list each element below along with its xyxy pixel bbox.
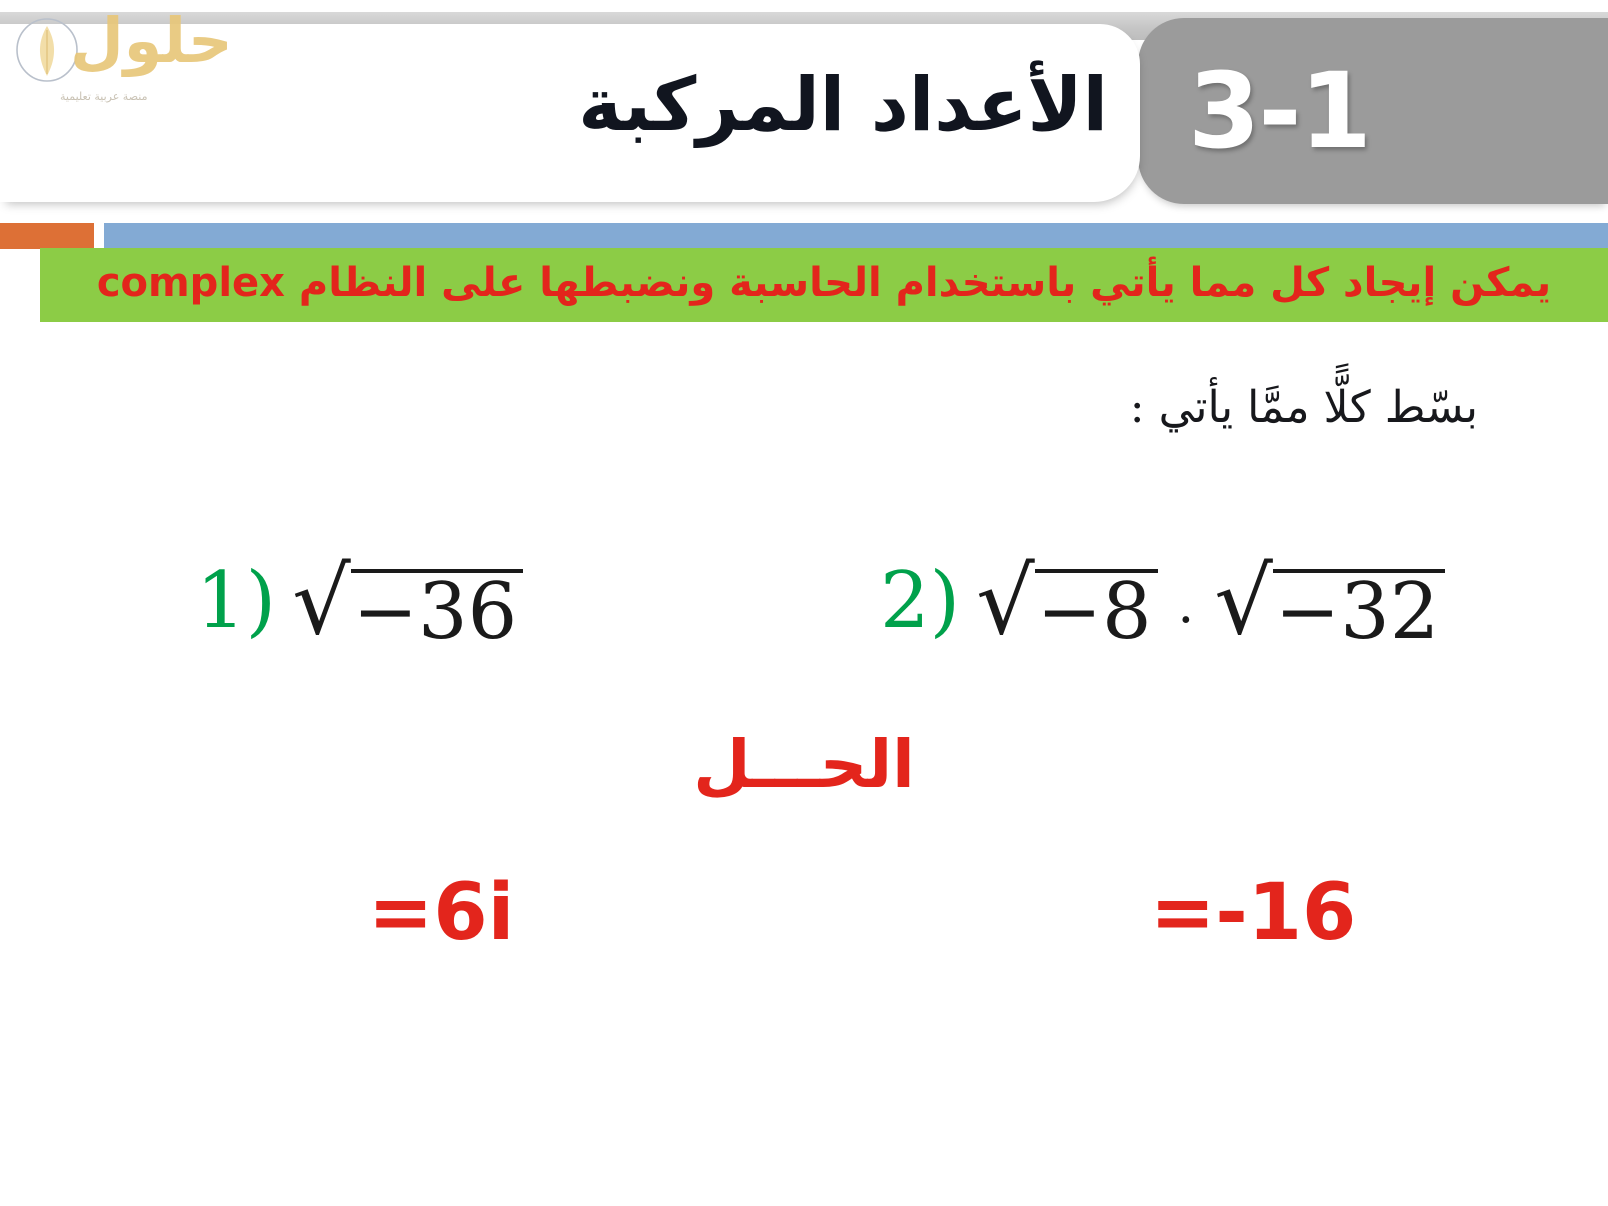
problem-row: 1) √ −36 2) √ −8 · √ −32 bbox=[0, 562, 1608, 692]
solution-label: الحـــل bbox=[0, 726, 1608, 803]
answer-value-2: =-16 bbox=[1150, 874, 1356, 952]
problem-item-1: 1) √ −36 bbox=[196, 562, 523, 653]
problem-item-2: 2) √ −8 · √ −32 bbox=[880, 562, 1445, 653]
radical-expression-a: √ −8 bbox=[976, 562, 1158, 653]
instruction-banner-text: يمكن إيجاد كل مما يأتي باستخدام الحاسبة … bbox=[97, 263, 1551, 307]
lesson-badge-panel: 3-1 bbox=[1138, 18, 1608, 204]
slide-root: 3-1 حلول منصة عربية تعليمية الأعداد المر… bbox=[0, 0, 1608, 1206]
radicand-value-b: −32 bbox=[1273, 569, 1446, 653]
brand-logo: حلول منصة عربية تعليمية bbox=[8, 6, 238, 118]
multiplication-dot-icon: · bbox=[1168, 595, 1205, 647]
instruction-banner: يمكن إيجاد كل مما يأتي باستخدام الحاسبة … bbox=[40, 248, 1608, 322]
radical-expression-b: √ −32 bbox=[1214, 562, 1445, 653]
orange-accent-bar bbox=[0, 223, 94, 249]
blue-accent-bar bbox=[104, 223, 1608, 249]
answer-row: =6i =-16 bbox=[0, 874, 1608, 984]
problem-index-1: 1) bbox=[196, 562, 276, 640]
radicand-value: −36 bbox=[351, 569, 524, 653]
logo-wordmark: حلول bbox=[70, 10, 233, 72]
page-title: الأعداد المركبة bbox=[578, 62, 1108, 148]
radical-sign-icon: √ bbox=[292, 562, 351, 641]
radical-sign-icon: √ bbox=[1214, 562, 1273, 641]
radicand-value-a: −8 bbox=[1035, 569, 1158, 653]
radical-sign-icon: √ bbox=[976, 562, 1035, 641]
lesson-number: 3-1 bbox=[1188, 50, 1370, 172]
problem-expression-2: √ −8 · √ −32 bbox=[976, 562, 1445, 653]
problem-expression-1: √ −36 bbox=[292, 562, 523, 653]
answer-value-1: =6i bbox=[368, 874, 514, 952]
logo-subtitle: منصة عربية تعليمية bbox=[60, 90, 147, 103]
simplify-instruction: بسّط كلًّا ممَّا يأتي : bbox=[1130, 382, 1478, 433]
radical-expression: √ −36 bbox=[292, 562, 523, 653]
problem-index-2: 2) bbox=[880, 562, 960, 640]
